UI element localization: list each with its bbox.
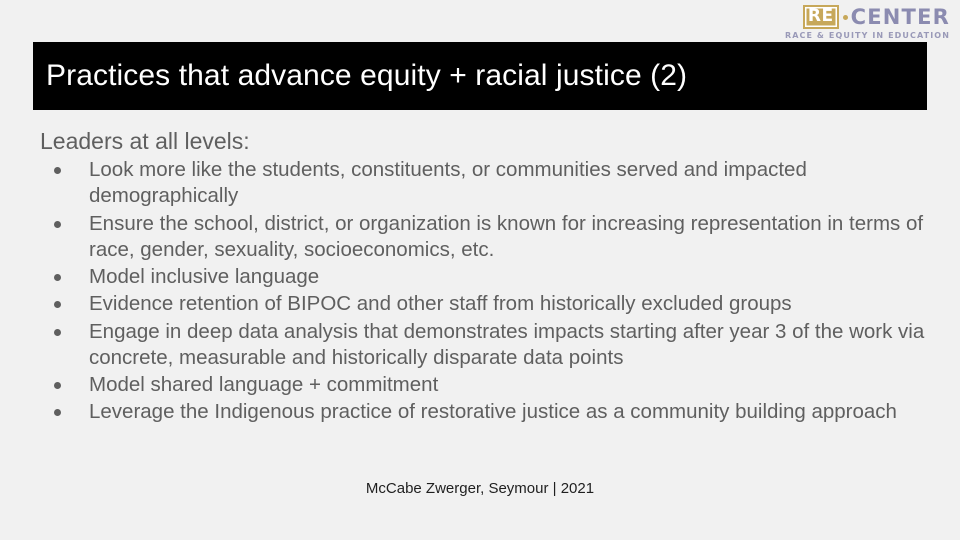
slide-title-bar: Practices that advance equity + racial j… [33, 42, 927, 110]
bullet-dot-icon [54, 329, 61, 336]
list-item: Model inclusive language [40, 264, 930, 290]
list-item-text: Model inclusive language [89, 265, 319, 288]
logo-re-badge: RE [803, 5, 839, 29]
page-title: Practices that advance equity + racial j… [33, 59, 687, 93]
list-item-text: Look more like the students, constituent… [89, 158, 807, 207]
bullet-list: Look more like the students, constituent… [40, 157, 930, 425]
re-center-logo: RE CENTER RACE & EQUITY IN EDUCATION [785, 6, 950, 40]
logo-tagline: RACE & EQUITY IN EDUCATION [785, 32, 950, 40]
list-item-text: Leverage the Indigenous practice of rest… [89, 400, 897, 423]
dot-separator-icon [843, 15, 848, 20]
bullet-dot-icon [54, 301, 61, 308]
list-item: Look more like the students, constituent… [40, 157, 930, 209]
list-item: Model shared language + commitment [40, 372, 930, 398]
list-item: Engage in deep data analysis that demons… [40, 319, 930, 371]
bullet-dot-icon [54, 167, 61, 174]
lead-in-text: Leaders at all levels: [40, 128, 930, 155]
list-item: Leverage the Indigenous practice of rest… [40, 399, 930, 425]
list-item-text: Model shared language + commitment [89, 373, 438, 396]
footer-citation: McCabe Zwerger, Seymour | 2021 [0, 480, 960, 497]
logo-wordmark-row: RE CENTER [803, 6, 950, 28]
list-item: Ensure the school, district, or organiza… [40, 211, 930, 263]
logo-center-text: CENTER [851, 7, 950, 28]
bullet-dot-icon [54, 221, 61, 228]
list-item-text: Ensure the school, district, or organiza… [89, 212, 923, 261]
slide: RE CENTER RACE & EQUITY IN EDUCATION Pra… [0, 0, 960, 540]
bullet-dot-icon [54, 382, 61, 389]
bullet-dot-icon [54, 409, 61, 416]
list-item-text: Evidence retention of BIPOC and other st… [89, 292, 792, 315]
bullet-dot-icon [54, 274, 61, 281]
slide-body: Leaders at all levels: Look more like th… [40, 128, 930, 426]
list-item: Evidence retention of BIPOC and other st… [40, 291, 930, 317]
list-item-text: Engage in deep data analysis that demons… [89, 320, 924, 369]
